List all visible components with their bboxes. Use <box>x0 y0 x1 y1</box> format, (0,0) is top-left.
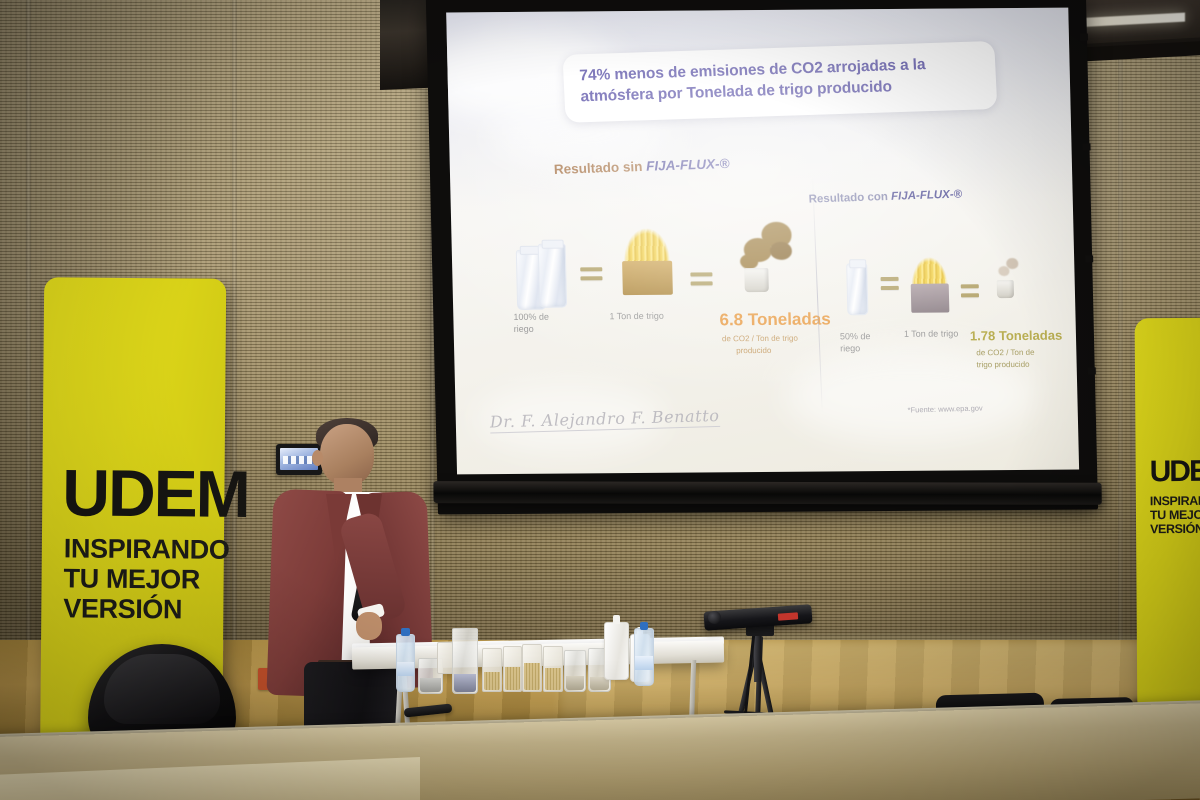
speaker-hand <box>356 612 382 640</box>
udem-tagline: INSPIRANDO TU MEJOR VERSIÓN <box>63 533 229 625</box>
udem-tagline-line2: TU MEJOR <box>1150 508 1200 522</box>
grain-jar <box>482 648 502 692</box>
beaker-fill <box>566 676 584 690</box>
screen-tab <box>1080 33 1088 40</box>
beaker-fill <box>420 678 441 692</box>
beaker-fill <box>454 674 476 692</box>
water-bottle <box>634 628 654 686</box>
bottle-cap <box>640 622 649 630</box>
projection-screen[interactable]: 74% menos de emisiones de CO2 arrojadas … <box>426 0 1098 519</box>
white-bottle <box>604 622 629 680</box>
presentation-photo: 74% menos de emisiones de CO2 arrojadas … <box>0 0 1200 800</box>
tripod-column <box>754 630 761 682</box>
udem-tagline-line2: TU MEJOR <box>63 564 229 596</box>
water-bottle <box>396 634 415 692</box>
udem-banner-right: UDEM INSPIRAN TU MEJOR VERSIÓN <box>1135 318 1200 715</box>
udem-wordmark: UDEM <box>1150 458 1200 486</box>
udem-tagline: INSPIRAN TU MEJOR VERSIÓN <box>1150 494 1200 536</box>
beaker <box>564 650 586 692</box>
bottle-cap <box>401 628 409 636</box>
wall-seam <box>232 0 237 690</box>
grain-sample <box>484 672 500 690</box>
udem-tagline-line3: VERSIÓN <box>1150 522 1200 536</box>
bottle-label <box>397 662 414 677</box>
wall-seam <box>1118 0 1123 690</box>
bottle-label <box>635 656 653 671</box>
slide-content: 74% menos de emisiones de CO2 arrojadas … <box>446 8 1079 475</box>
camera-brand-logo <box>778 612 798 620</box>
grain-jar <box>522 644 542 692</box>
screen-tab <box>1082 143 1090 150</box>
udem-tagline-line1: INSPIRANDO <box>64 533 230 565</box>
grain-sample <box>505 667 520 690</box>
lecture-room: 74% menos de emisiones de CO2 arrojadas … <box>0 0 1200 800</box>
chair-seat <box>104 654 220 724</box>
grain-jar <box>503 646 522 692</box>
speaker-ear <box>312 450 323 466</box>
udem-tagline-line1: INSPIRAN <box>1150 494 1200 508</box>
udem-tagline-line3: VERSIÓN <box>63 594 229 626</box>
glass-jar <box>437 642 453 674</box>
tall-beaker <box>452 628 478 694</box>
bottle-neck <box>613 615 620 624</box>
projector-glow <box>446 8 1079 475</box>
screen-tab <box>1085 255 1093 262</box>
speaker-head <box>320 424 374 486</box>
screen-tab <box>1088 367 1096 374</box>
screen-weight-bar[interactable] <box>433 481 1101 505</box>
grain-sample <box>545 668 561 690</box>
wall-seam <box>26 0 31 690</box>
udem-wordmark: UDEM <box>62 463 249 524</box>
grain-sample <box>524 663 540 690</box>
grain-jar <box>543 646 563 692</box>
